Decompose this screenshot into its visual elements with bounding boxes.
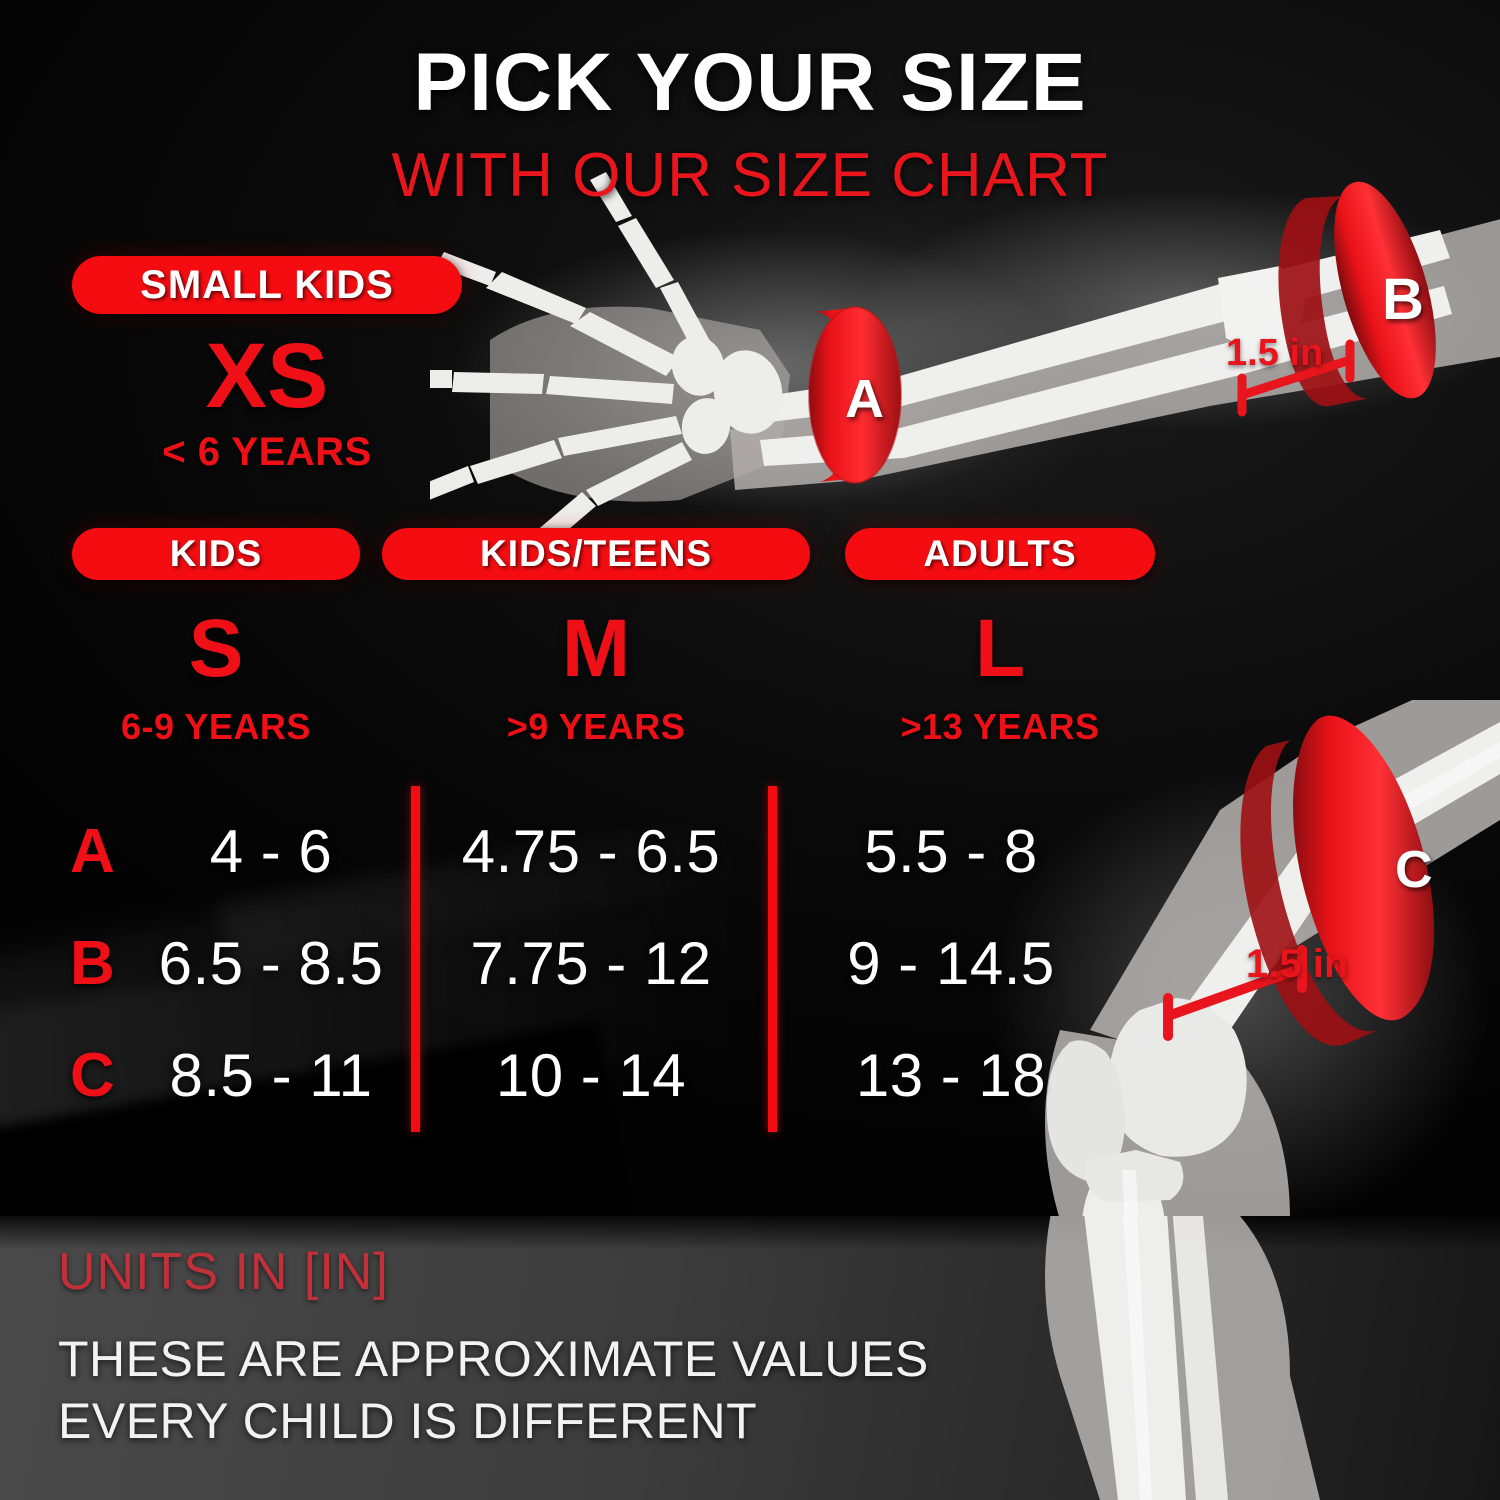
table-row: B 6.5 - 8.5 7.75 - 12 9 - 14.5: [0, 912, 1160, 1016]
size-badge-kids-teens[interactable]: KIDS/TEENS: [382, 528, 810, 580]
units-note: UNITS IN [IN]: [58, 1242, 389, 1302]
cell-c-m: 10 - 14: [422, 1024, 760, 1128]
row-label-b: B: [70, 912, 134, 1016]
cell-b-m: 7.75 - 12: [422, 912, 760, 1016]
size-letter-l: L: [845, 608, 1155, 690]
size-age-s: 6-9 YEARS: [72, 706, 360, 748]
arm-dimension-label: 1.5 in: [1226, 332, 1323, 375]
size-age-l: >13 YEARS: [845, 706, 1155, 748]
approximate-values-note-line-1: THESE ARE APPROXIMATE VALUES: [58, 1330, 929, 1388]
size-age-xs: < 6 YEARS: [72, 430, 462, 475]
cell-a-l: 5.5 - 8: [786, 800, 1116, 904]
row-label-a: A: [70, 800, 134, 904]
band-a-label: A: [845, 368, 884, 430]
table-row: A 4 - 6 4.75 - 6.5 5.5 - 8: [0, 800, 1160, 904]
size-badge-adults[interactable]: ADULTS: [845, 528, 1155, 580]
size-badge-small-kids[interactable]: SMALL KIDS: [72, 256, 462, 314]
cell-a-m: 4.75 - 6.5: [422, 800, 760, 904]
size-letter-s: S: [72, 608, 360, 690]
size-chart-infographic: A B 1.5 in: [0, 0, 1500, 1500]
background-glow: [560, 210, 1120, 540]
cell-c-l: 13 - 18: [786, 1024, 1116, 1128]
approximate-values-note-line-2: EVERY CHILD IS DIFFERENT: [58, 1392, 757, 1450]
page-title: PICK YOUR SIZE: [0, 36, 1500, 130]
row-label-c: C: [70, 1024, 134, 1128]
cell-b-s: 6.5 - 8.5: [140, 912, 402, 1016]
page-subtitle: WITH OUR SIZE CHART: [0, 140, 1500, 211]
band-c-label: C: [1395, 840, 1433, 900]
cell-c-s: 8.5 - 11: [140, 1024, 402, 1128]
knee-dimension-label: 1.5 in: [1246, 942, 1348, 987]
size-badge-kids[interactable]: KIDS: [72, 528, 360, 580]
band-b-label: B: [1382, 266, 1424, 333]
size-letter-xs: XS: [72, 330, 462, 422]
table-row: C 8.5 - 11 10 - 14 13 - 18: [0, 1024, 1160, 1128]
size-age-m: >9 YEARS: [382, 706, 810, 748]
size-letter-m: M: [382, 608, 810, 690]
cell-b-l: 9 - 14.5: [786, 912, 1116, 1016]
cell-a-s: 4 - 6: [140, 800, 402, 904]
